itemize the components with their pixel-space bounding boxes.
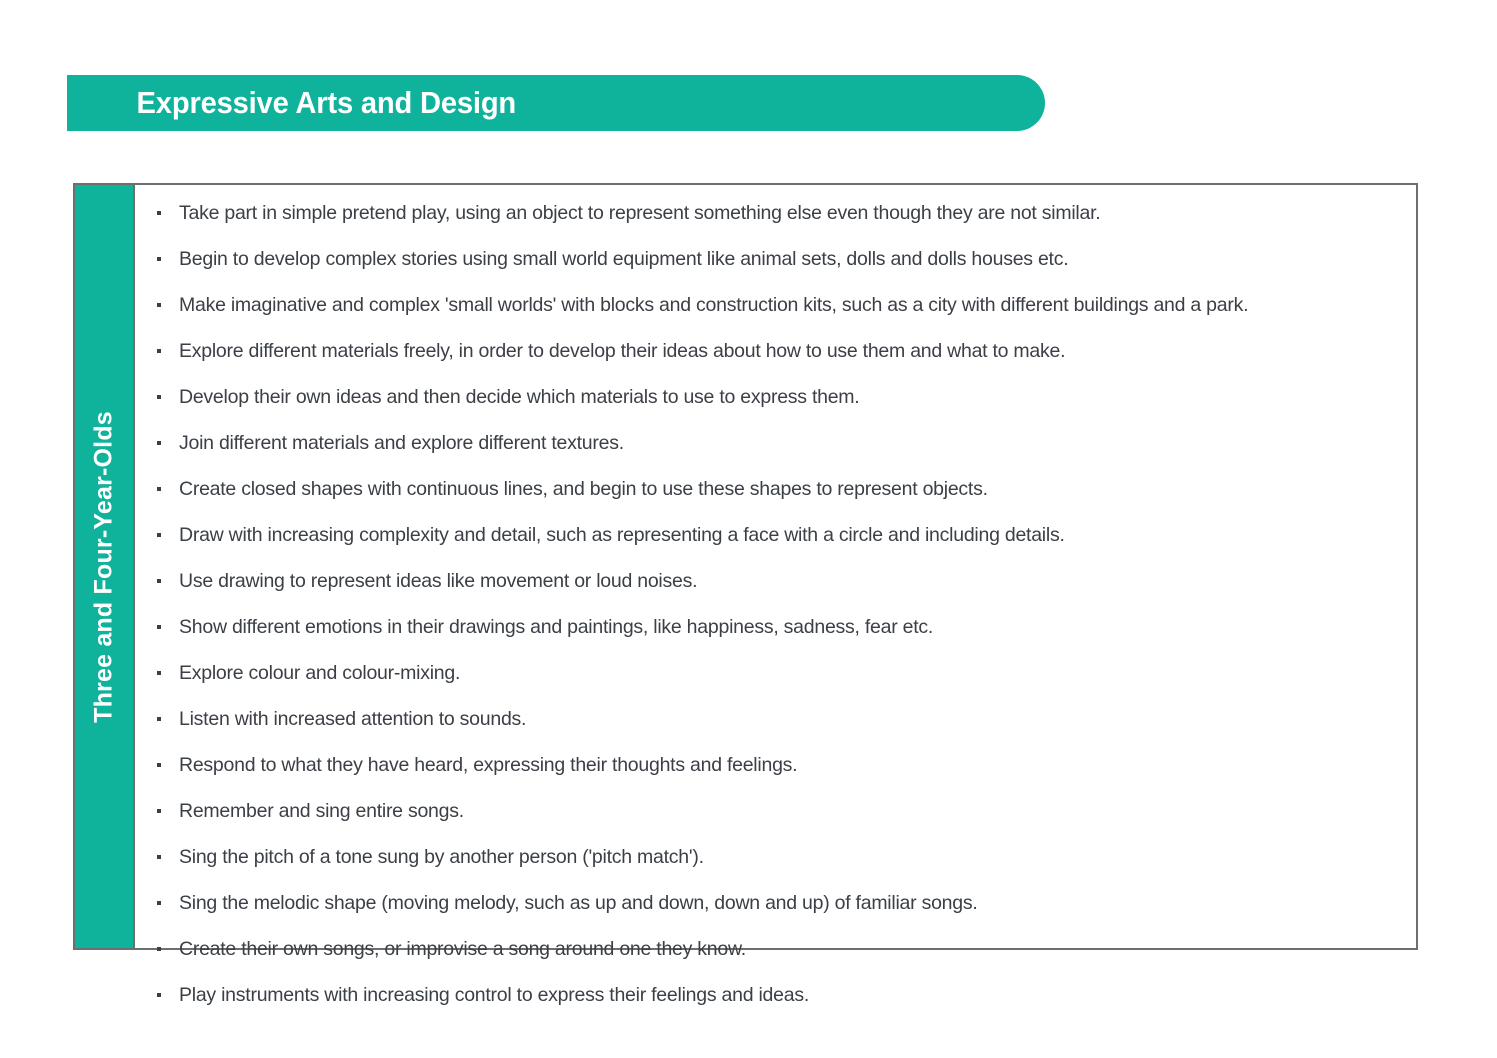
list-item: Respond to what they have heard, express… [149, 751, 1394, 780]
statements-list: Take part in simple pretend play, using … [149, 199, 1394, 1010]
content-box: Three and Four-Year-Olds Take part in si… [73, 183, 1418, 950]
list-item: Develop their own ideas and then decide … [149, 383, 1394, 412]
age-group-side-tab: Three and Four-Year-Olds [75, 185, 135, 948]
section-header-banner: Expressive Arts and Design [67, 75, 1045, 131]
list-item: Show different emotions in their drawing… [149, 613, 1394, 642]
list-item: Make imaginative and complex 'small worl… [149, 291, 1394, 320]
list-item: Explore different materials freely, in o… [149, 337, 1394, 366]
age-group-label: Three and Four-Year-Olds [90, 411, 119, 723]
list-item: Create closed shapes with continuous lin… [149, 475, 1394, 504]
list-item: Sing the pitch of a tone sung by another… [149, 843, 1394, 872]
list-item: Remember and sing entire songs. [149, 797, 1394, 826]
list-item: Play instruments with increasing control… [149, 981, 1394, 1010]
list-item: Listen with increased attention to sound… [149, 705, 1394, 734]
list-item: Explore colour and colour-mixing. [149, 659, 1394, 688]
page-root: Expressive Arts and Design Three and Fou… [0, 0, 1497, 1058]
list-item: Draw with increasing complexity and deta… [149, 521, 1394, 550]
page-title: Expressive Arts and Design [67, 85, 516, 121]
statements-list-area: Take part in simple pretend play, using … [135, 185, 1416, 948]
list-item: Begin to develop complex stories using s… [149, 245, 1394, 274]
list-item: Join different materials and explore dif… [149, 429, 1394, 458]
list-item: Sing the melodic shape (moving melody, s… [149, 889, 1394, 918]
list-item: Use drawing to represent ideas like move… [149, 567, 1394, 596]
list-item: Take part in simple pretend play, using … [149, 199, 1394, 228]
list-item: Create their own songs, or improvise a s… [149, 935, 1394, 964]
